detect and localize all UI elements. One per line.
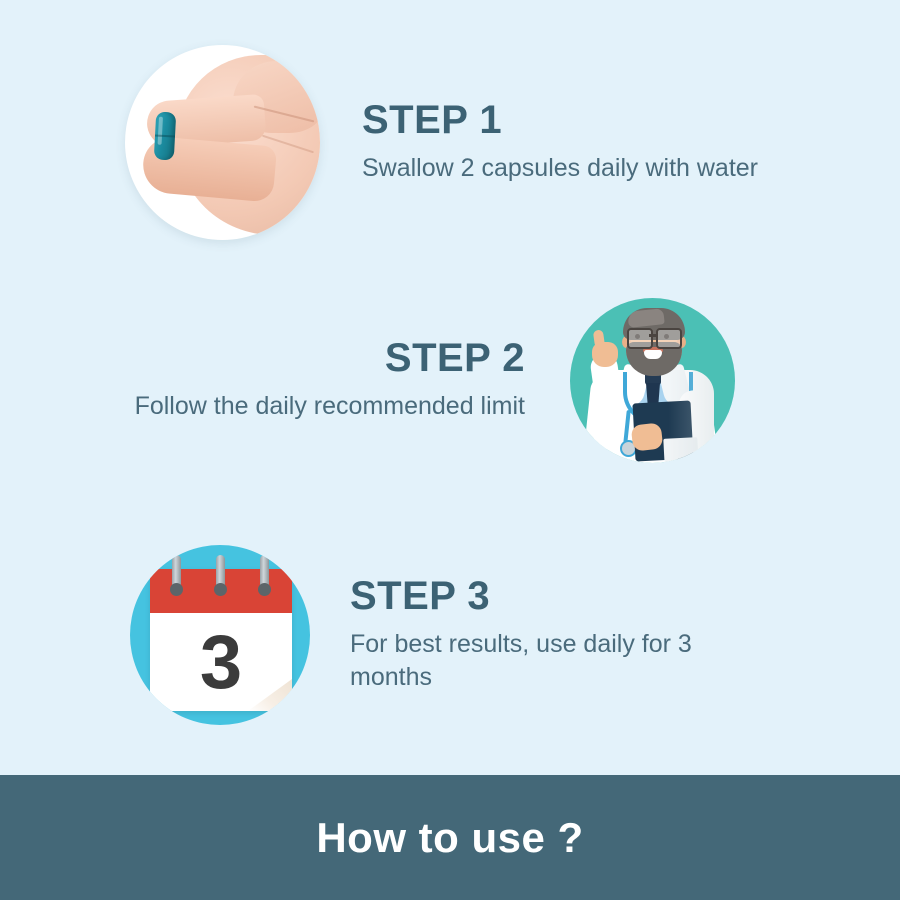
eyeglasses-lens-right [656,328,682,349]
step-2-row: STEP 2 Follow the daily recommended limi… [95,298,735,463]
how-to-use-infographic: STEP 1 Swallow 2 capsules daily with wat… [0,0,900,900]
doctor-figure [570,298,735,463]
step-2-text-block: STEP 2 Follow the daily recommended limi… [95,338,525,423]
hand-holding-capsule-photo [125,45,320,240]
step-3-text-block: STEP 3 For best results, use daily for 3… [350,576,750,694]
step-3-description: For best results, use daily for 3 months [350,628,750,694]
banner-title: How to use ? [316,814,583,862]
step-2-description: Follow the daily recommended limit [95,390,525,423]
step-3-title: STEP 3 [350,576,750,616]
step-1-title: STEP 1 [362,100,762,140]
step-3-row: 3 STEP 3 For best results, use daily for… [130,545,750,725]
eyeglasses-bridge [649,334,658,337]
mouth-shape [644,350,662,359]
calendar-ring-3 [260,555,269,591]
calendar-ring-2 [216,555,225,591]
step-2-title: STEP 2 [95,338,525,378]
step-1-row: STEP 1 Swallow 2 capsules daily with wat… [125,45,762,240]
step-1-text-block: STEP 1 Swallow 2 capsules daily with wat… [362,100,762,185]
calendar-ring-1 [172,555,181,591]
calendar-icon: 3 [130,545,310,725]
doctor-thumbs-up-illustration [570,298,735,463]
thumbs-up-icon [593,329,605,348]
coat-shading [594,370,714,463]
eyeglasses-lens-left [627,328,653,349]
bottom-banner: How to use ? [0,775,900,900]
step-1-description: Swallow 2 capsules daily with water [362,152,762,185]
